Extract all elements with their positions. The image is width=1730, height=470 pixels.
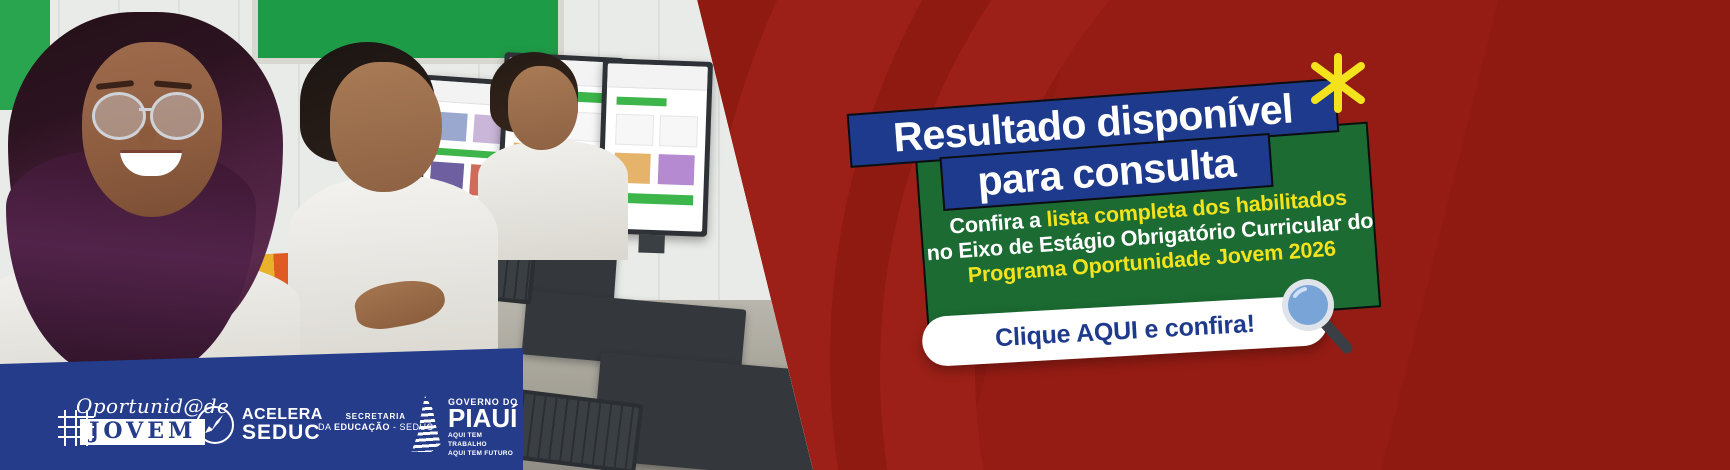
promo-banner: Oportunid@de JOVEM ACELERA SEDUC SECRETA…	[0, 0, 1730, 470]
promo-content: Resultado disponível para consulta Confi…	[0, 0, 1730, 470]
magnifying-glass-icon	[1275, 272, 1359, 356]
asterisk-sparkle-icon	[1307, 52, 1369, 114]
